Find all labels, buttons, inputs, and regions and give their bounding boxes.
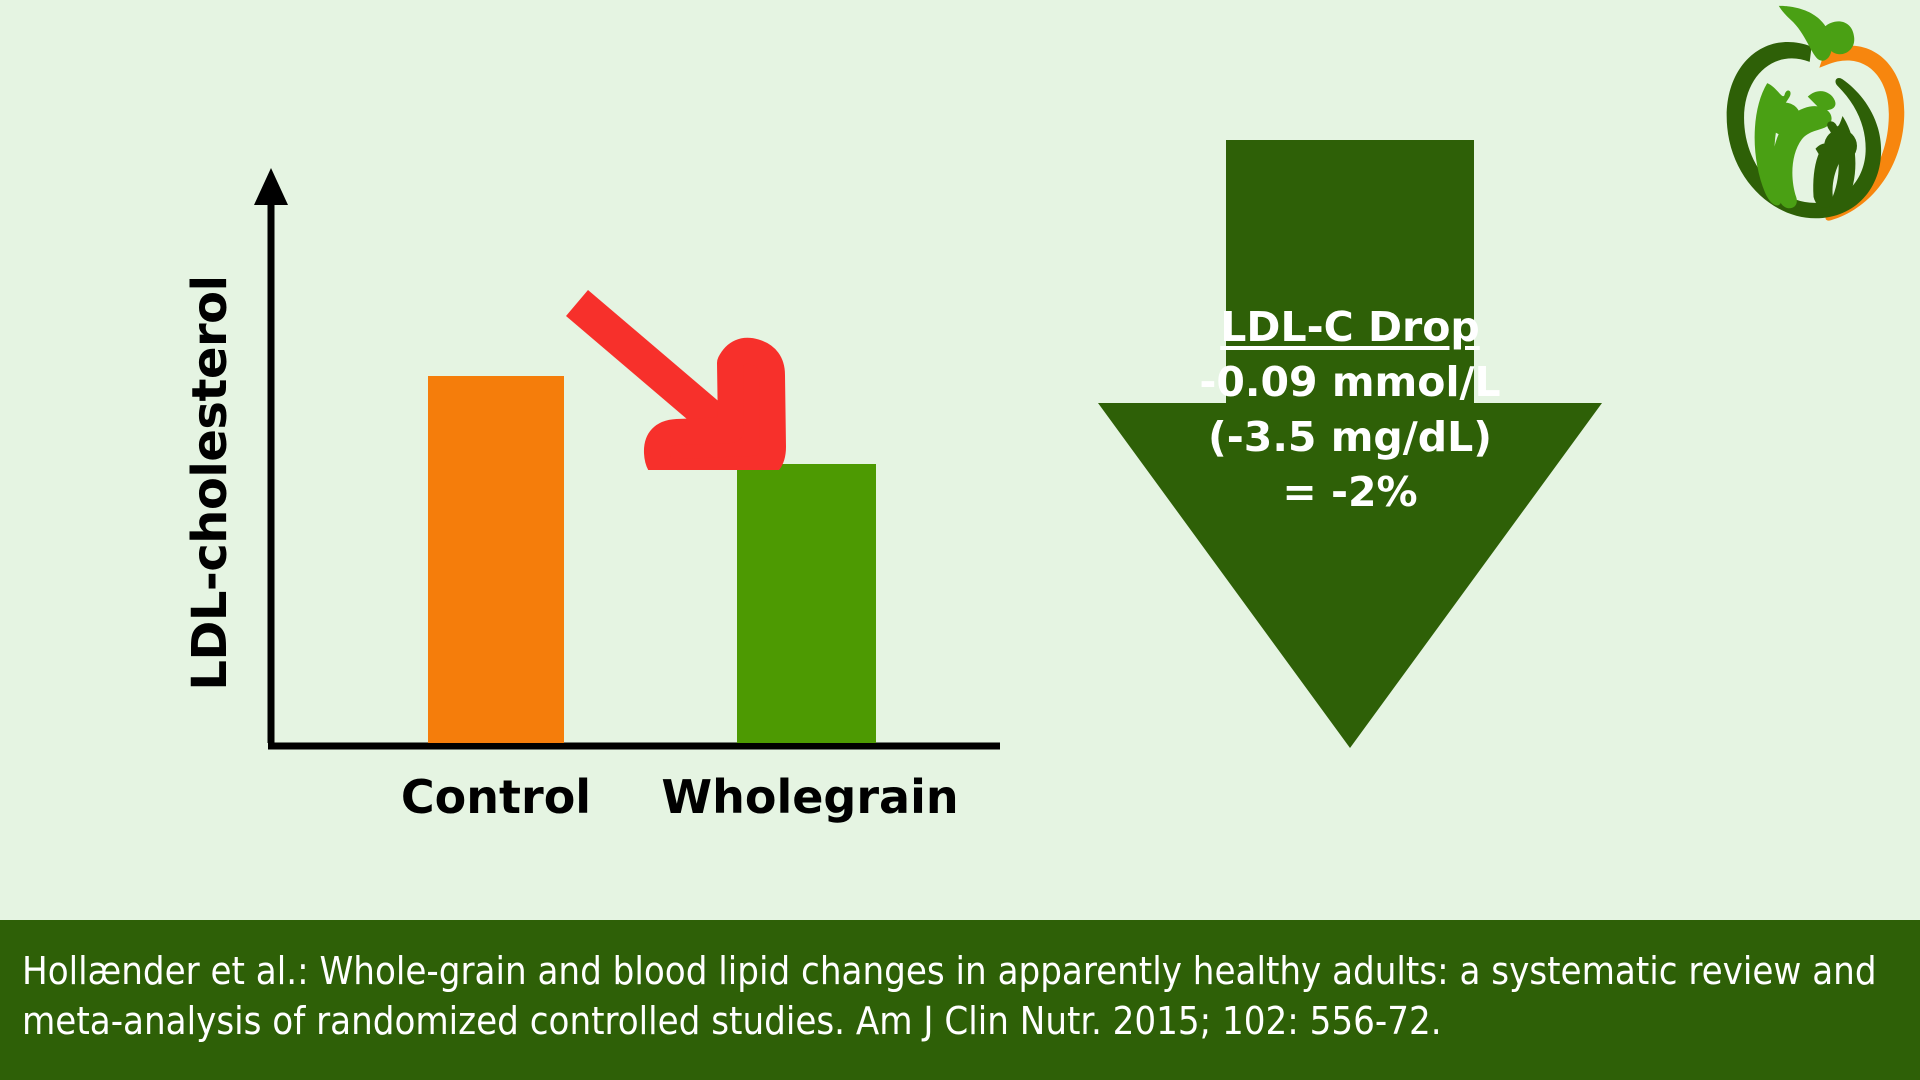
citation-band: Hollænder et al.: Whole-grain and blood … <box>0 920 1920 1080</box>
infographic-canvas: LDL-cholesterol Control Wholegrain LDL-C… <box>0 0 1920 1080</box>
logo-figure-light-head <box>1768 102 1801 135</box>
ldl-drop-callout: LDL-C Drop -0.09 mmol/L (-3.5 mg/dL) = -… <box>1090 140 1610 760</box>
callout-heading: LDL-C Drop <box>1220 300 1479 355</box>
bar-control <box>428 376 564 743</box>
logo-figure-dark-head <box>1824 129 1857 162</box>
apple-family-logo-icon <box>1690 2 1912 228</box>
citation-text: Hollænder et al.: Whole-grain and blood … <box>22 946 1898 1046</box>
bar-wholegrain <box>737 464 876 743</box>
callout-value-mmol: -0.09 mmol/L <box>1090 355 1610 410</box>
y-axis-arrowhead-icon <box>254 168 288 205</box>
callout-text-block: LDL-C Drop -0.09 mmol/L (-3.5 mg/dL) = -… <box>1090 300 1610 520</box>
bar-chart: LDL-cholesterol Control Wholegrain <box>0 0 1000 920</box>
x-tick-label-control: Control <box>346 770 646 824</box>
callout-value-mgdl: (-3.5 mg/dL) <box>1090 410 1610 465</box>
callout-value-percent: = -2% <box>1090 465 1610 520</box>
decline-arrow-icon <box>545 270 845 470</box>
x-tick-label-wholegrain: Wholegrain <box>650 770 970 824</box>
